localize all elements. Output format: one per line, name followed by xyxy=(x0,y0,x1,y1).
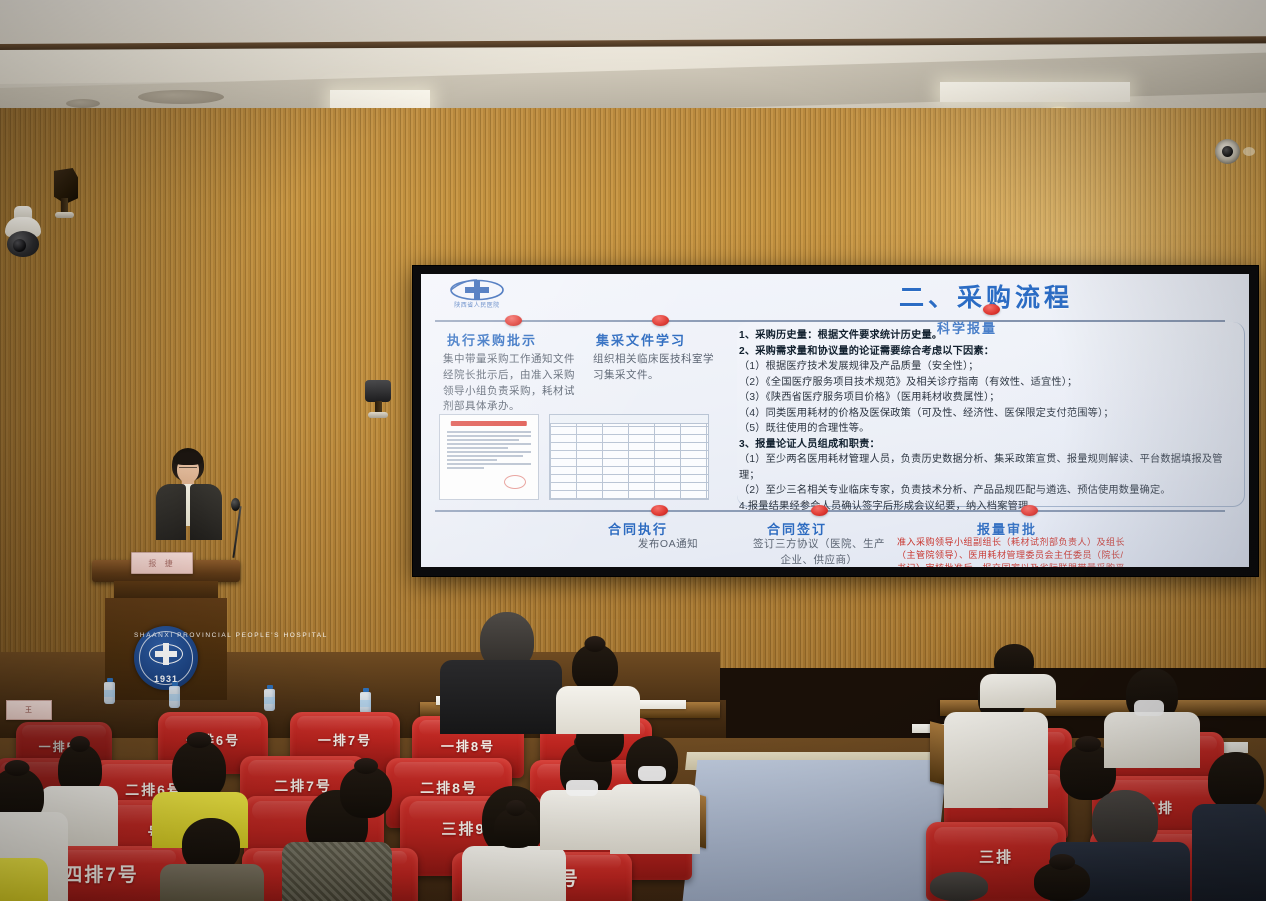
audience-head-17 xyxy=(1034,862,1090,901)
speaker-hair-fringe xyxy=(173,452,203,465)
stage-camera-body xyxy=(365,380,391,402)
podium-nameplate: 报 捷 xyxy=(131,552,193,574)
seat-label: 一排8号 xyxy=(412,736,524,755)
science-line-4: （2）《全国医疗服务项目技术规范》及相关诊疗指南（有效性、适宜性）； xyxy=(739,375,1241,391)
node-heading-2: 集采文件学习 xyxy=(596,330,686,349)
conference-hall-photo: 陕西省人民医院 二、采购流程 执行采购批示 集采文件学习 科学报量 集中带量采购… xyxy=(0,0,1266,901)
wall-speaker xyxy=(54,168,78,218)
audience-body-16 xyxy=(1192,804,1266,901)
document-red-header xyxy=(451,421,527,426)
node-body-5: 签订三方协议（医院、生产企业、供应商） xyxy=(751,537,887,567)
speaker-person xyxy=(148,448,228,568)
audience-body-12 xyxy=(980,674,1056,708)
timeline-dot-1 xyxy=(505,315,522,326)
science-line-3: （1）根据医疗技术发展规律及产品质量（安全性）； xyxy=(739,359,1241,375)
document-thumbnail xyxy=(439,414,539,500)
science-line-1: 1、采购历史量：根据文件要求统计历史量。 xyxy=(739,328,1241,344)
stage-camera xyxy=(365,380,391,416)
bottle-label xyxy=(169,694,180,701)
seat-label: 一排7号 xyxy=(290,730,400,749)
audience-face-mask-2 xyxy=(638,766,666,781)
audience-body-9 xyxy=(556,686,640,734)
audience-head-9 xyxy=(572,644,618,692)
ceiling-dome-camera-right xyxy=(1215,139,1240,164)
audience-face-mask-1 xyxy=(566,780,598,796)
podium-neck xyxy=(114,581,218,599)
audience-face-mask-3 xyxy=(1134,700,1164,716)
science-line-2: 2、采购需求量和协议量的论证需要综合考虑以下因素： xyxy=(739,344,1241,360)
audience-head-4 xyxy=(340,766,392,818)
audience-body-11 xyxy=(944,712,1048,808)
speaker-jacket-left xyxy=(156,484,186,540)
water-bottle-4 xyxy=(360,688,371,714)
node-heading-1: 执行采购批示 xyxy=(447,330,537,349)
table-thumbnail-header xyxy=(550,415,708,424)
water-bottle-2 xyxy=(169,682,180,708)
bottle-label xyxy=(264,697,275,704)
bottle-label xyxy=(360,700,371,707)
timeline-dot-3 xyxy=(983,304,1000,315)
science-line-10: （2）至少三名相关专业临床专家，负责技术分析、产品品规匹配与遴选、预估使用数量确… xyxy=(739,483,1241,499)
audience-head-16 xyxy=(1208,752,1264,810)
podium-microphone-head xyxy=(231,498,240,511)
stage-camera-base xyxy=(368,412,388,418)
node-body-2: 组织相关临床医技科室学习集采文件。 xyxy=(593,352,723,384)
audience-head-10 xyxy=(626,736,678,790)
node-heading-5: 合同签订 xyxy=(767,519,827,538)
name-card-text: 王 xyxy=(25,705,33,715)
node-body-6: 准入采购领导小组副组长（耗材试剂部负责人）及组长（主管院领导）、医用耗材管理委员… xyxy=(897,536,1125,567)
science-report-list: 1、采购历史量：根据文件要求统计历史量。 2、采购需求量和协议量的论证需要综合考… xyxy=(739,328,1241,514)
document-text-lines xyxy=(447,431,531,471)
speaker-base xyxy=(55,212,74,218)
ceiling-light-panel-right xyxy=(940,82,1130,102)
audience-body-3 xyxy=(282,842,392,901)
node-heading-4: 合同执行 xyxy=(608,519,668,538)
table-thumbnail-grid xyxy=(550,424,708,499)
projection-screen-frame: 陕西省人民医院 二、采购流程 执行采购批示 集采文件学习 科学报量 集中带量采购… xyxy=(412,265,1259,577)
audience-body-5 xyxy=(462,846,566,901)
audience-body-15 xyxy=(1104,712,1200,768)
bottle-label xyxy=(104,690,115,697)
seat-label: 三排 xyxy=(926,846,1066,867)
hospital-logo-icon xyxy=(449,279,505,301)
podium-nameplate-text: 报 捷 xyxy=(148,558,175,569)
name-card-wang: 王 xyxy=(6,700,52,720)
slide-title: 二、采购流程 xyxy=(899,278,1229,314)
science-line-8: 3、报量论证人员组成和职责： xyxy=(739,437,1241,453)
timeline-dot-5 xyxy=(811,505,828,516)
node-body-4: 发布OA通知 xyxy=(613,537,723,553)
audience-body-21 xyxy=(160,864,264,901)
ptz-security-camera xyxy=(3,206,43,258)
document-red-stamp xyxy=(504,475,526,489)
presentation-slide: 陕西省人民医院 二、采购流程 执行采购批示 集采文件学习 科学报量 集中带量采购… xyxy=(421,274,1249,567)
ceiling-vent-large xyxy=(138,90,224,104)
audience-body-7 xyxy=(440,660,562,734)
speaker-jacket-right xyxy=(190,484,222,540)
center-aisle-carpet xyxy=(683,760,948,901)
science-line-9: （1）至少两名医用耗材管理人员，负责历史数据分析、集采政策宣贯、报量规则解读、平… xyxy=(739,452,1241,483)
audience-body-10 xyxy=(610,784,700,854)
camera-lens xyxy=(13,239,26,252)
timeline-dot-6 xyxy=(1021,505,1038,516)
timeline-dot-2 xyxy=(652,315,669,326)
table-thumbnail xyxy=(549,414,709,500)
water-bottle-1 xyxy=(104,678,115,704)
ceiling-vent-small xyxy=(66,99,100,108)
wall-highlight xyxy=(1243,147,1255,156)
desk-paper-2 xyxy=(640,700,686,709)
science-line-6: （4）同类医用耗材的价格及医保政策（可及性、经济性、医保限定支付范围等）； xyxy=(739,406,1241,422)
node-body-1: 集中带量采购工作通知文件经院长批示后，由准入采购领导小组负责采购，耗材试剂部具体… xyxy=(443,352,585,415)
emblem-year: 1931 xyxy=(134,674,198,684)
audience-head-18 xyxy=(930,872,988,901)
audience-head-2 xyxy=(172,740,226,800)
emblem-arc-text: SHAANXI PROVINCIAL PEOPLE'S HOSPITAL xyxy=(134,632,198,639)
audience-head-5b xyxy=(494,808,538,848)
speaker-glasses xyxy=(179,467,197,471)
hospital-logo: 陕西省人民医院 xyxy=(433,279,521,313)
timeline-dot-4 xyxy=(651,505,668,516)
audience-body-20 xyxy=(0,858,48,901)
science-line-7: （5）既往使用的合理性等。 xyxy=(739,421,1241,437)
hospital-emblem: SHAANXI PROVINCIAL PEOPLE'S HOSPITAL 193… xyxy=(134,626,198,690)
hospital-logo-text: 陕西省人民医院 xyxy=(433,300,521,309)
emblem-cross-icon xyxy=(154,642,178,666)
water-bottle-3 xyxy=(264,685,275,711)
science-line-5: （3）《陕西省医疗服务项目价格》（医用耗材收费属性）； xyxy=(739,390,1241,406)
